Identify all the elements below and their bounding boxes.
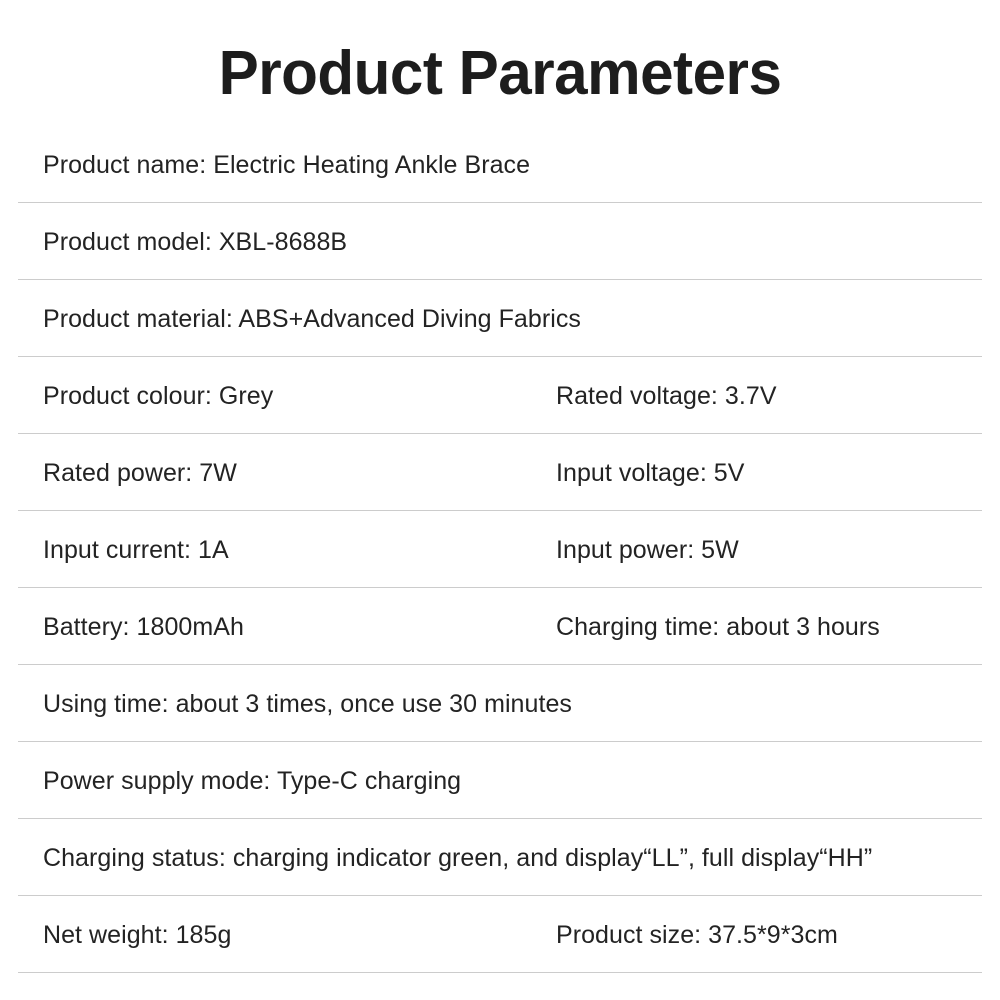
parameter-cell-primary: Rated power: 7W: [43, 434, 237, 511]
parameter-cell-primary: Product model: XBL-8688B: [43, 203, 976, 280]
product-parameters-page: Product Parameters Product name: Electri…: [0, 0, 1000, 1000]
parameter-cell-secondary: Input voltage: 5V: [556, 434, 744, 511]
parameter-cell-secondary: Product size: 37.5*9*3cm: [556, 896, 838, 973]
parameter-cell-primary: Using time: about 3 times, once use 30 m…: [43, 665, 976, 742]
table-row: Battery: 1800mAhCharging time: about 3 h…: [0, 588, 1000, 665]
table-row: Rated power: 7WInput voltage: 5V: [0, 434, 1000, 511]
parameters-table: Product name: Electric Heating Ankle Bra…: [0, 126, 1000, 973]
parameter-cell-primary: Power supply mode: Type-C charging: [43, 742, 976, 819]
parameter-cell-secondary: Charging time: about 3 hours: [556, 588, 880, 665]
table-row: Product material: ABS+Advanced Diving Fa…: [0, 280, 1000, 357]
row-divider: [18, 972, 982, 973]
table-row: Product model: XBL-8688B: [0, 203, 1000, 280]
parameter-cell-primary: Battery: 1800mAh: [43, 588, 244, 665]
parameter-cell-primary: Charging status: charging indicator gree…: [43, 819, 976, 896]
table-row: Input current: 1AInput power: 5W: [0, 511, 1000, 588]
table-row: Using time: about 3 times, once use 30 m…: [0, 665, 1000, 742]
parameter-cell-secondary: Rated voltage: 3.7V: [556, 357, 777, 434]
table-row: Charging status: charging indicator gree…: [0, 819, 1000, 896]
parameter-cell-primary: Input current: 1A: [43, 511, 229, 588]
table-row: Net weight: 185gProduct size: 37.5*9*3cm: [0, 896, 1000, 973]
parameter-cell-primary: Product name: Electric Heating Ankle Bra…: [43, 126, 976, 203]
parameter-cell-primary: Product colour: Grey: [43, 357, 273, 434]
table-row: Product name: Electric Heating Ankle Bra…: [0, 126, 1000, 203]
table-row: Product colour: GreyRated voltage: 3.7V: [0, 357, 1000, 434]
table-row: Power supply mode: Type-C charging: [0, 742, 1000, 819]
parameter-cell-secondary: Input power: 5W: [556, 511, 739, 588]
parameter-cell-primary: Net weight: 185g: [43, 896, 231, 973]
page-title: Product Parameters: [15, 40, 985, 108]
parameter-cell-primary: Product material: ABS+Advanced Diving Fa…: [43, 280, 976, 357]
